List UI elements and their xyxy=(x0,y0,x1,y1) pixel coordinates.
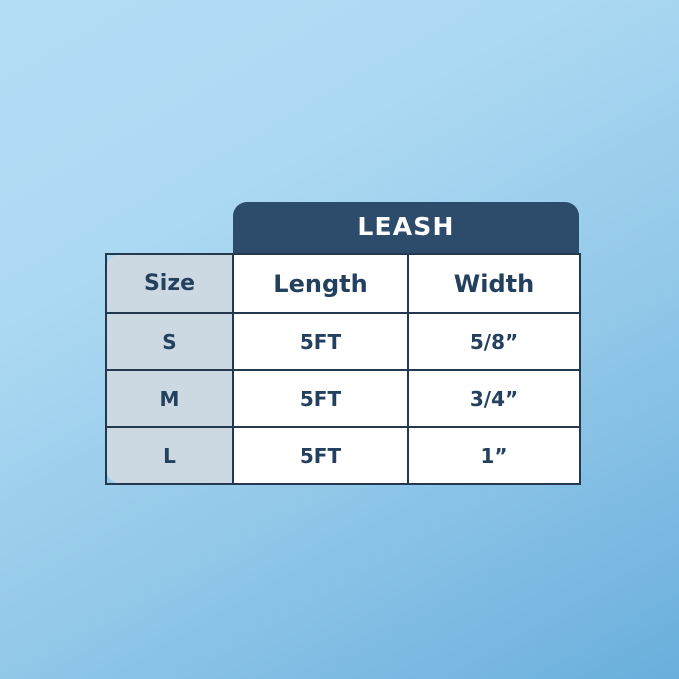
column-header-length: Length xyxy=(233,254,408,313)
table-row: L 5FT 1” xyxy=(106,427,580,484)
cell-length-m: 5FT xyxy=(233,370,408,427)
page-background: LEASH Size Length Width S 5F xyxy=(0,0,679,679)
cell-size-l: L xyxy=(106,427,233,484)
cell-size-s: S xyxy=(106,313,233,370)
cell-width-m: 3/4” xyxy=(408,370,580,427)
cell-length-l: 5FT xyxy=(233,427,408,484)
table-row: M 5FT 3/4” xyxy=(106,370,580,427)
cell-length-s: 5FT xyxy=(233,313,408,370)
chart-banner-title: LEASH xyxy=(233,210,579,244)
cell-size-m: M xyxy=(106,370,233,427)
table-row: S 5FT 5/8” xyxy=(106,313,580,370)
size-chart-table-wrapper: Size Length Width S 5FT 5/8” M 5FT 3/4” xyxy=(105,253,579,480)
cell-width-s: 5/8” xyxy=(408,313,580,370)
table-header-row: Size Length Width xyxy=(106,254,580,313)
chart-banner: LEASH xyxy=(233,202,579,258)
column-header-size: Size xyxy=(106,254,233,313)
size-chart-table: Size Length Width S 5FT 5/8” M 5FT 3/4” xyxy=(105,253,581,485)
column-header-width: Width xyxy=(408,254,580,313)
cell-width-l: 1” xyxy=(408,427,580,484)
size-chart: LEASH Size Length Width S 5F xyxy=(105,202,579,480)
